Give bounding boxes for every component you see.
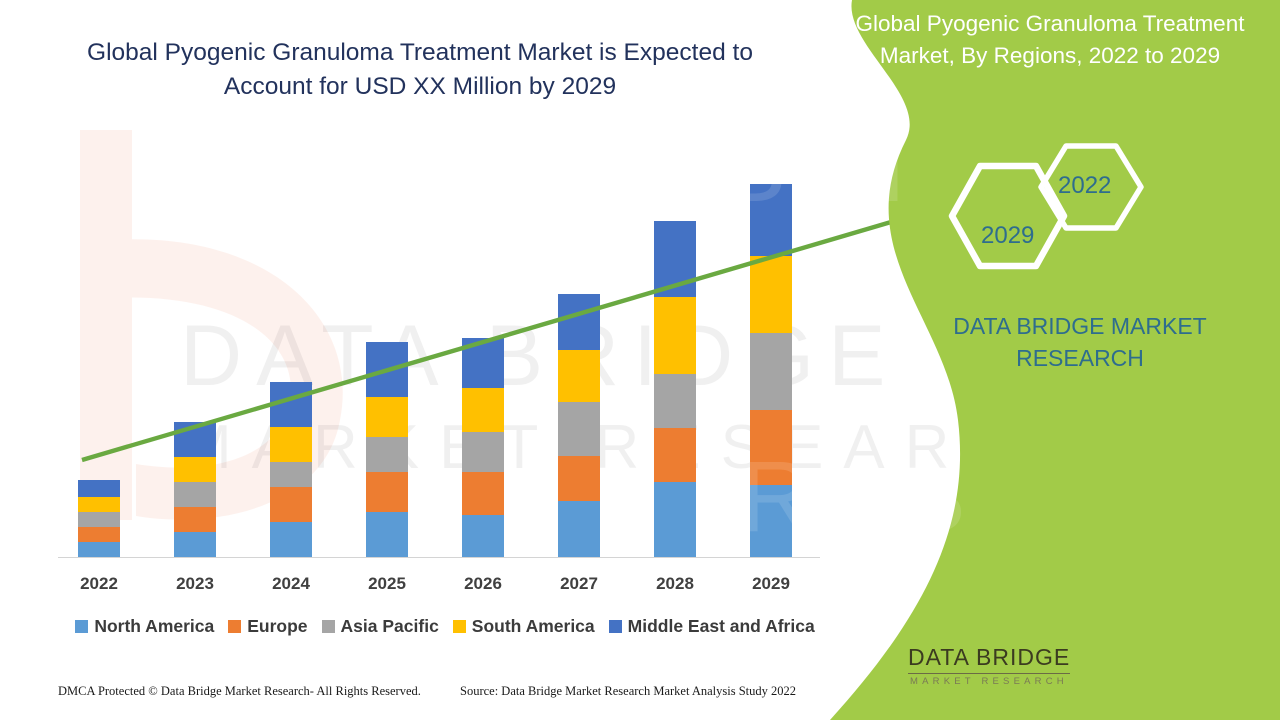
x-axis-label-2023: 2023 bbox=[174, 574, 216, 594]
legend-swatch-icon bbox=[453, 620, 466, 633]
legend-label: Asia Pacific bbox=[341, 616, 439, 637]
bar-segment bbox=[174, 422, 216, 457]
bar-segment bbox=[558, 294, 600, 350]
bar-segment bbox=[270, 382, 312, 427]
chart-plot-area: 20222023202420252026202720282029 bbox=[0, 0, 860, 600]
bar-segment bbox=[270, 462, 312, 487]
bar-2025 bbox=[366, 0, 408, 557]
x-axis-label-2025: 2025 bbox=[366, 574, 408, 594]
right-green-panel: BRI RES Global Pyogenic Granuloma Treatm… bbox=[810, 0, 1280, 720]
x-axis-label-2027: 2027 bbox=[558, 574, 600, 594]
bar-segment bbox=[462, 432, 504, 472]
legend-swatch-icon bbox=[75, 620, 88, 633]
bar-2027 bbox=[558, 0, 600, 557]
footer-copyright: DMCA Protected © Data Bridge Market Rese… bbox=[58, 684, 421, 699]
x-axis-labels: 20222023202420252026202720282029 bbox=[0, 574, 860, 604]
bar-segment bbox=[174, 457, 216, 482]
bar-segment bbox=[366, 512, 408, 557]
bar-segment bbox=[750, 184, 792, 255]
bar-segment bbox=[462, 338, 504, 388]
bar-segment bbox=[558, 501, 600, 557]
bar-segment bbox=[270, 427, 312, 462]
bar-segment bbox=[750, 333, 792, 410]
legend-label: Middle East and Africa bbox=[628, 616, 815, 637]
bar-segment bbox=[654, 482, 696, 557]
x-axis-label-2028: 2028 bbox=[654, 574, 696, 594]
bar-segment bbox=[270, 522, 312, 557]
x-axis-label-2026: 2026 bbox=[462, 574, 504, 594]
panel-title: Global Pyogenic Granuloma Treatment Mark… bbox=[845, 8, 1255, 72]
bar-segment bbox=[78, 527, 120, 542]
bar-segment bbox=[654, 428, 696, 482]
bar-segment bbox=[366, 342, 408, 397]
bar-segment bbox=[78, 497, 120, 512]
legend-item[interactable]: Asia Pacific bbox=[322, 616, 439, 637]
legend-label: North America bbox=[94, 616, 214, 637]
bar-segment bbox=[750, 485, 792, 557]
bar-segment bbox=[558, 350, 600, 402]
legend-item[interactable]: North America bbox=[75, 616, 214, 637]
bar-2026 bbox=[462, 0, 504, 557]
x-axis-label-2029: 2029 bbox=[750, 574, 792, 594]
legend-swatch-icon bbox=[322, 620, 335, 633]
bar-segment bbox=[78, 512, 120, 527]
bar-segment bbox=[654, 221, 696, 297]
logo-title: DATA BRIDGE bbox=[908, 644, 1070, 674]
legend-item[interactable]: Europe bbox=[228, 616, 307, 637]
slide-canvas: DATA BRIDGE MARKET RESEARCH Global Pyoge… bbox=[0, 0, 1280, 720]
bar-segment bbox=[366, 437, 408, 472]
legend-item[interactable]: Middle East and Africa bbox=[609, 616, 815, 637]
bar-segment bbox=[558, 456, 600, 501]
bar-segment bbox=[654, 297, 696, 374]
hexagon-shapes-icon bbox=[940, 140, 1160, 280]
hexagon-group: 2022 2029 bbox=[940, 140, 1160, 280]
bar-segment bbox=[366, 472, 408, 512]
bar-2022 bbox=[78, 0, 120, 557]
x-axis-line bbox=[58, 557, 820, 558]
bar-2023 bbox=[174, 0, 216, 557]
bar-2028 bbox=[654, 0, 696, 557]
bar-segment bbox=[462, 472, 504, 515]
bar-segment bbox=[366, 397, 408, 437]
bar-segment bbox=[750, 256, 792, 333]
bar-2029 bbox=[750, 0, 792, 557]
panel-brand-name: DATA BRIDGE MARKET RESEARCH bbox=[930, 310, 1230, 374]
bar-segment bbox=[750, 410, 792, 485]
bar-segment bbox=[558, 402, 600, 456]
bar-segment bbox=[78, 542, 120, 557]
bar-segment bbox=[78, 480, 120, 497]
chart-legend: North AmericaEuropeAsia PacificSouth Ame… bbox=[50, 616, 840, 637]
bar-segment bbox=[462, 388, 504, 432]
bar-segment bbox=[270, 487, 312, 522]
legend-swatch-icon bbox=[609, 620, 622, 633]
databridge-logo: DATA BRIDGE MARKET RESEARCH bbox=[832, 632, 1072, 702]
x-axis-label-2024: 2024 bbox=[270, 574, 312, 594]
bar-segment bbox=[654, 374, 696, 428]
legend-item[interactable]: South America bbox=[453, 616, 595, 637]
footer-source: Source: Data Bridge Market Research Mark… bbox=[460, 684, 796, 699]
bar-segment bbox=[174, 532, 216, 557]
legend-label: Europe bbox=[247, 616, 307, 637]
hexagon-label-2029: 2029 bbox=[981, 222, 1034, 250]
hexagon-label-2022: 2022 bbox=[1058, 172, 1111, 200]
bar-2024 bbox=[270, 0, 312, 557]
logo-subtitle: MARKET RESEARCH bbox=[910, 676, 1068, 687]
bar-segment bbox=[462, 515, 504, 557]
legend-label: South America bbox=[472, 616, 595, 637]
x-axis-label-2022: 2022 bbox=[78, 574, 120, 594]
legend-swatch-icon bbox=[228, 620, 241, 633]
bar-segment bbox=[174, 482, 216, 507]
bar-segment bbox=[174, 507, 216, 532]
